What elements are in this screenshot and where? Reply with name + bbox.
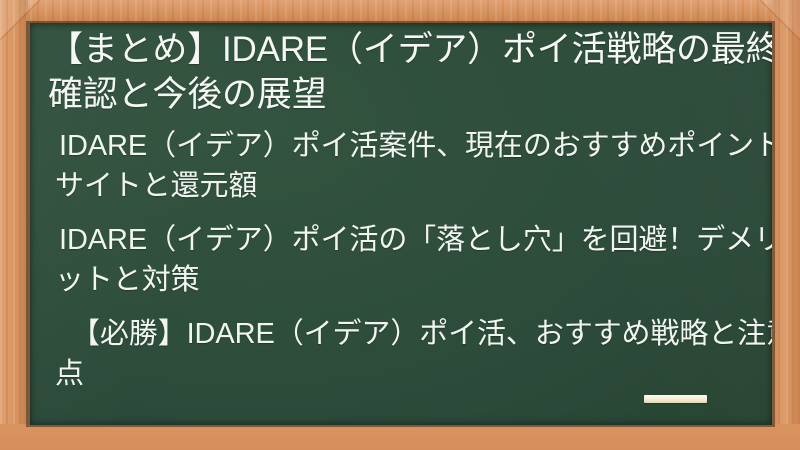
- list-item: IDARE（イデア）ポイ活案件、現在のおすすめポイントサイトと還元額: [55, 126, 772, 206]
- frame-right-rail: [772, 0, 800, 450]
- list-item: IDARE（イデア）ポイ活の「落とし穴」を回避！デメリットと対策: [55, 220, 772, 300]
- frame-left-rail: [0, 0, 28, 450]
- page-title: 【まとめ】IDARE（イデア）ポイ活戦略の最終確認と今後の展望: [48, 27, 772, 117]
- chalkboard-content: 【まとめ】IDARE（イデア）ポイ活戦略の最終確認と今後の展望 IDARE（イデ…: [30, 23, 772, 425]
- topic-list: IDARE（イデア）ポイ活案件、現在のおすすめポイントサイトと還元額 IDARE…: [55, 126, 772, 408]
- frame-bottom-ledge: [0, 424, 800, 450]
- chalk-stick: [644, 395, 707, 403]
- blackboard-slide: 【まとめ】IDARE（イデア）ポイ活戦略の最終確認と今後の展望 IDARE（イデ…: [0, 0, 800, 450]
- chalkboard-surface: 【まとめ】IDARE（イデア）ポイ活戦略の最終確認と今後の展望 IDARE（イデ…: [30, 23, 772, 425]
- list-item: 【必勝】IDARE（イデア）ポイ活、おすすめ戦略と注意点: [55, 314, 772, 394]
